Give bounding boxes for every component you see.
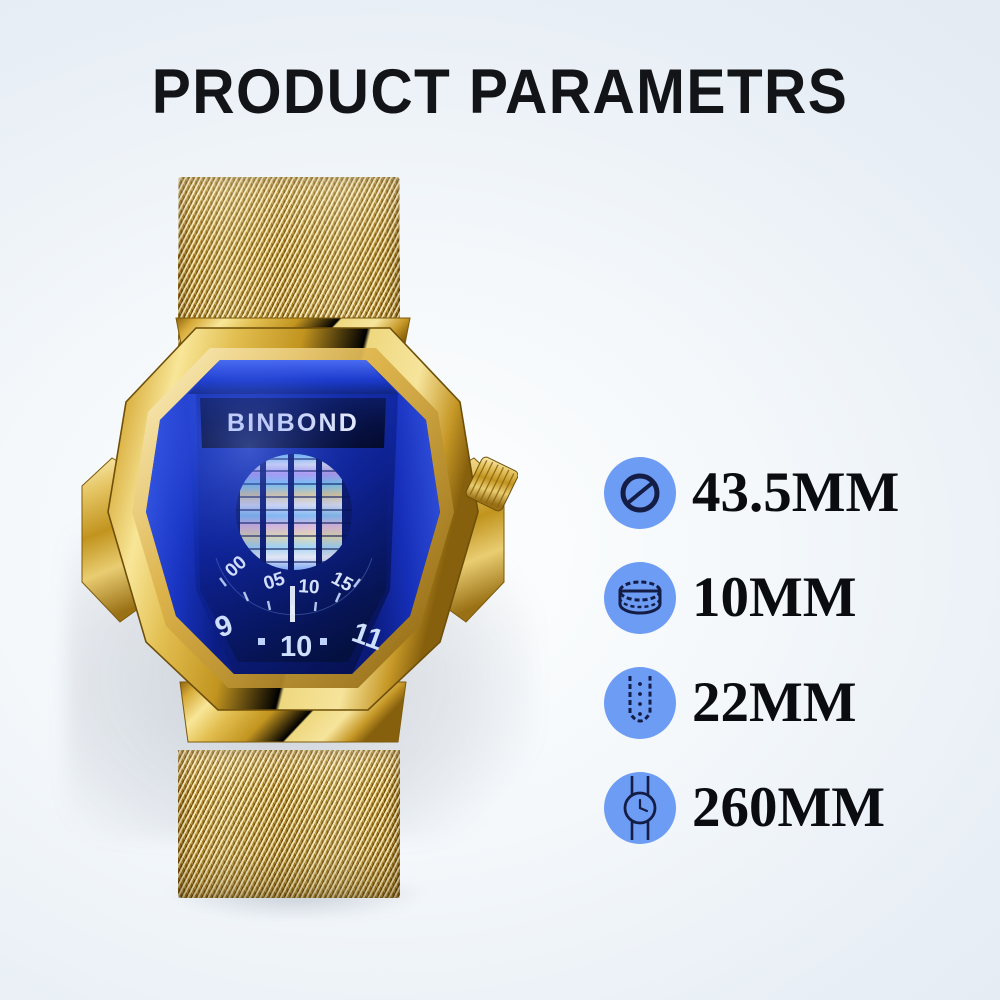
case-diameter-icon: [616, 469, 664, 517]
watch-case: BINBOND: [68, 290, 518, 760]
spec-value-band-length: 260MM: [692, 779, 885, 836]
spec-row-band-length: 260MM: [604, 755, 964, 860]
mesh-strap-lower: [178, 750, 400, 898]
strap-width-icon-badge: [604, 667, 676, 739]
spec-row-strap-width: 22MM: [604, 650, 964, 755]
spec-value-case-thickness: 10MM: [692, 569, 857, 626]
product-parameters-page: PRODUCT PARAMETRS: [0, 0, 1000, 1000]
spec-list: 43.5MM 10MM: [604, 440, 964, 860]
case-thickness-icon-badge: [604, 562, 676, 634]
spec-value-case-diameter: 43.5MM: [692, 464, 899, 521]
strap-width-icon: [623, 675, 657, 731]
watch-product-image: BINBOND: [60, 150, 550, 940]
watch-case-svg: BINBOND: [68, 290, 518, 760]
page-title: PRODUCT PARAMETRS: [35, 58, 965, 126]
spec-value-strap-width: 22MM: [692, 674, 857, 731]
case-diameter-icon-badge: [604, 457, 676, 529]
band-length-icon: [614, 775, 666, 841]
spec-row-case-diameter: 43.5MM: [604, 440, 964, 545]
band-length-icon-badge: [604, 772, 676, 844]
case-thickness-icon: [615, 576, 665, 620]
spec-row-case-thickness: 10MM: [604, 545, 964, 650]
strap-lower-shading: [178, 750, 400, 898]
